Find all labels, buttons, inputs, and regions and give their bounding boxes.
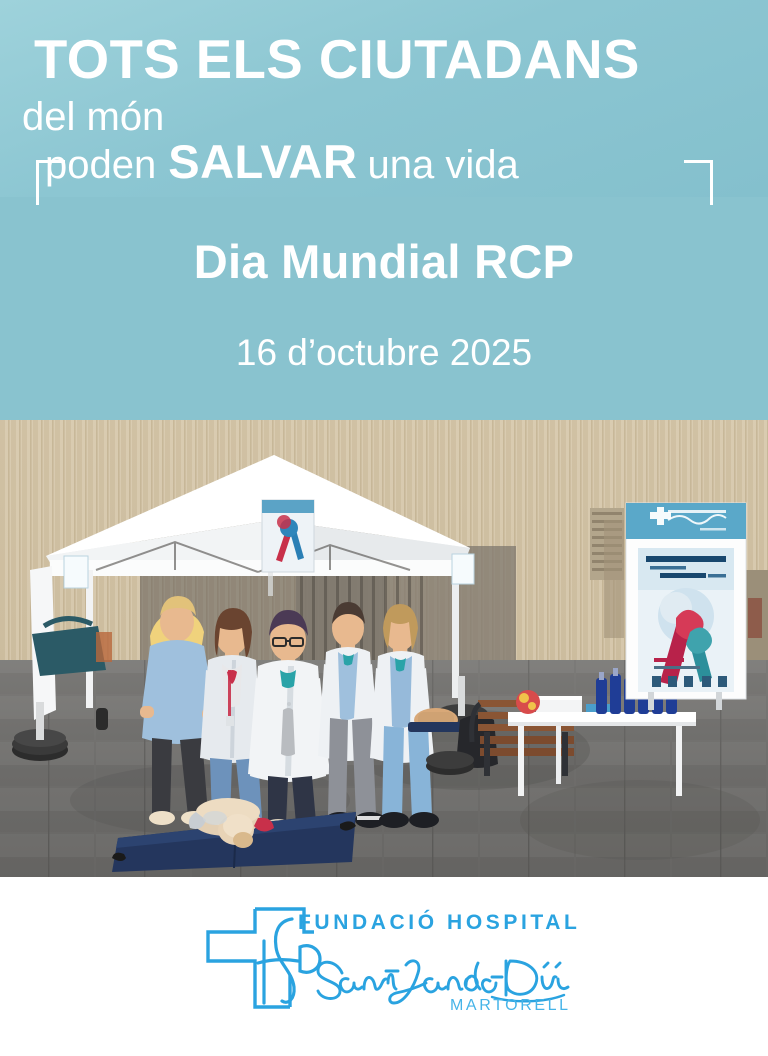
headline-una-vida: una vida	[368, 145, 519, 185]
footer: FUNDACIÓ HOSPITAL MARTORELL	[0, 877, 768, 1056]
subtitle-band	[0, 197, 768, 421]
headline-salvar: SALVAR	[168, 138, 357, 185]
hospital-logo: FUNDACIÓ HOSPITAL MARTORELL	[192, 899, 572, 1017]
logo-location-text: MARTORELL	[450, 997, 571, 1015]
corner-bracket-right-icon	[684, 160, 713, 205]
headline-block: TOTS ELS CIUTADANS del món poden SALVAR …	[0, 0, 768, 197]
event-photo	[0, 420, 768, 877]
headline-line-1: TOTS ELS CIUTADANS	[34, 32, 640, 87]
poster-root: TOTS ELS CIUTADANS del món poden SALVAR …	[0, 0, 768, 1056]
event-date: 16 d’octubre 2025	[0, 333, 768, 374]
corner-bracket-left-icon	[36, 160, 65, 205]
logo-foundation-text: FUNDACIÓ HOSPITAL	[298, 911, 580, 935]
event-title: Dia Mundial RCP	[0, 236, 768, 288]
headline-line-2: del món	[22, 97, 164, 137]
headline-line-3: poden SALVAR una vida	[45, 138, 519, 185]
